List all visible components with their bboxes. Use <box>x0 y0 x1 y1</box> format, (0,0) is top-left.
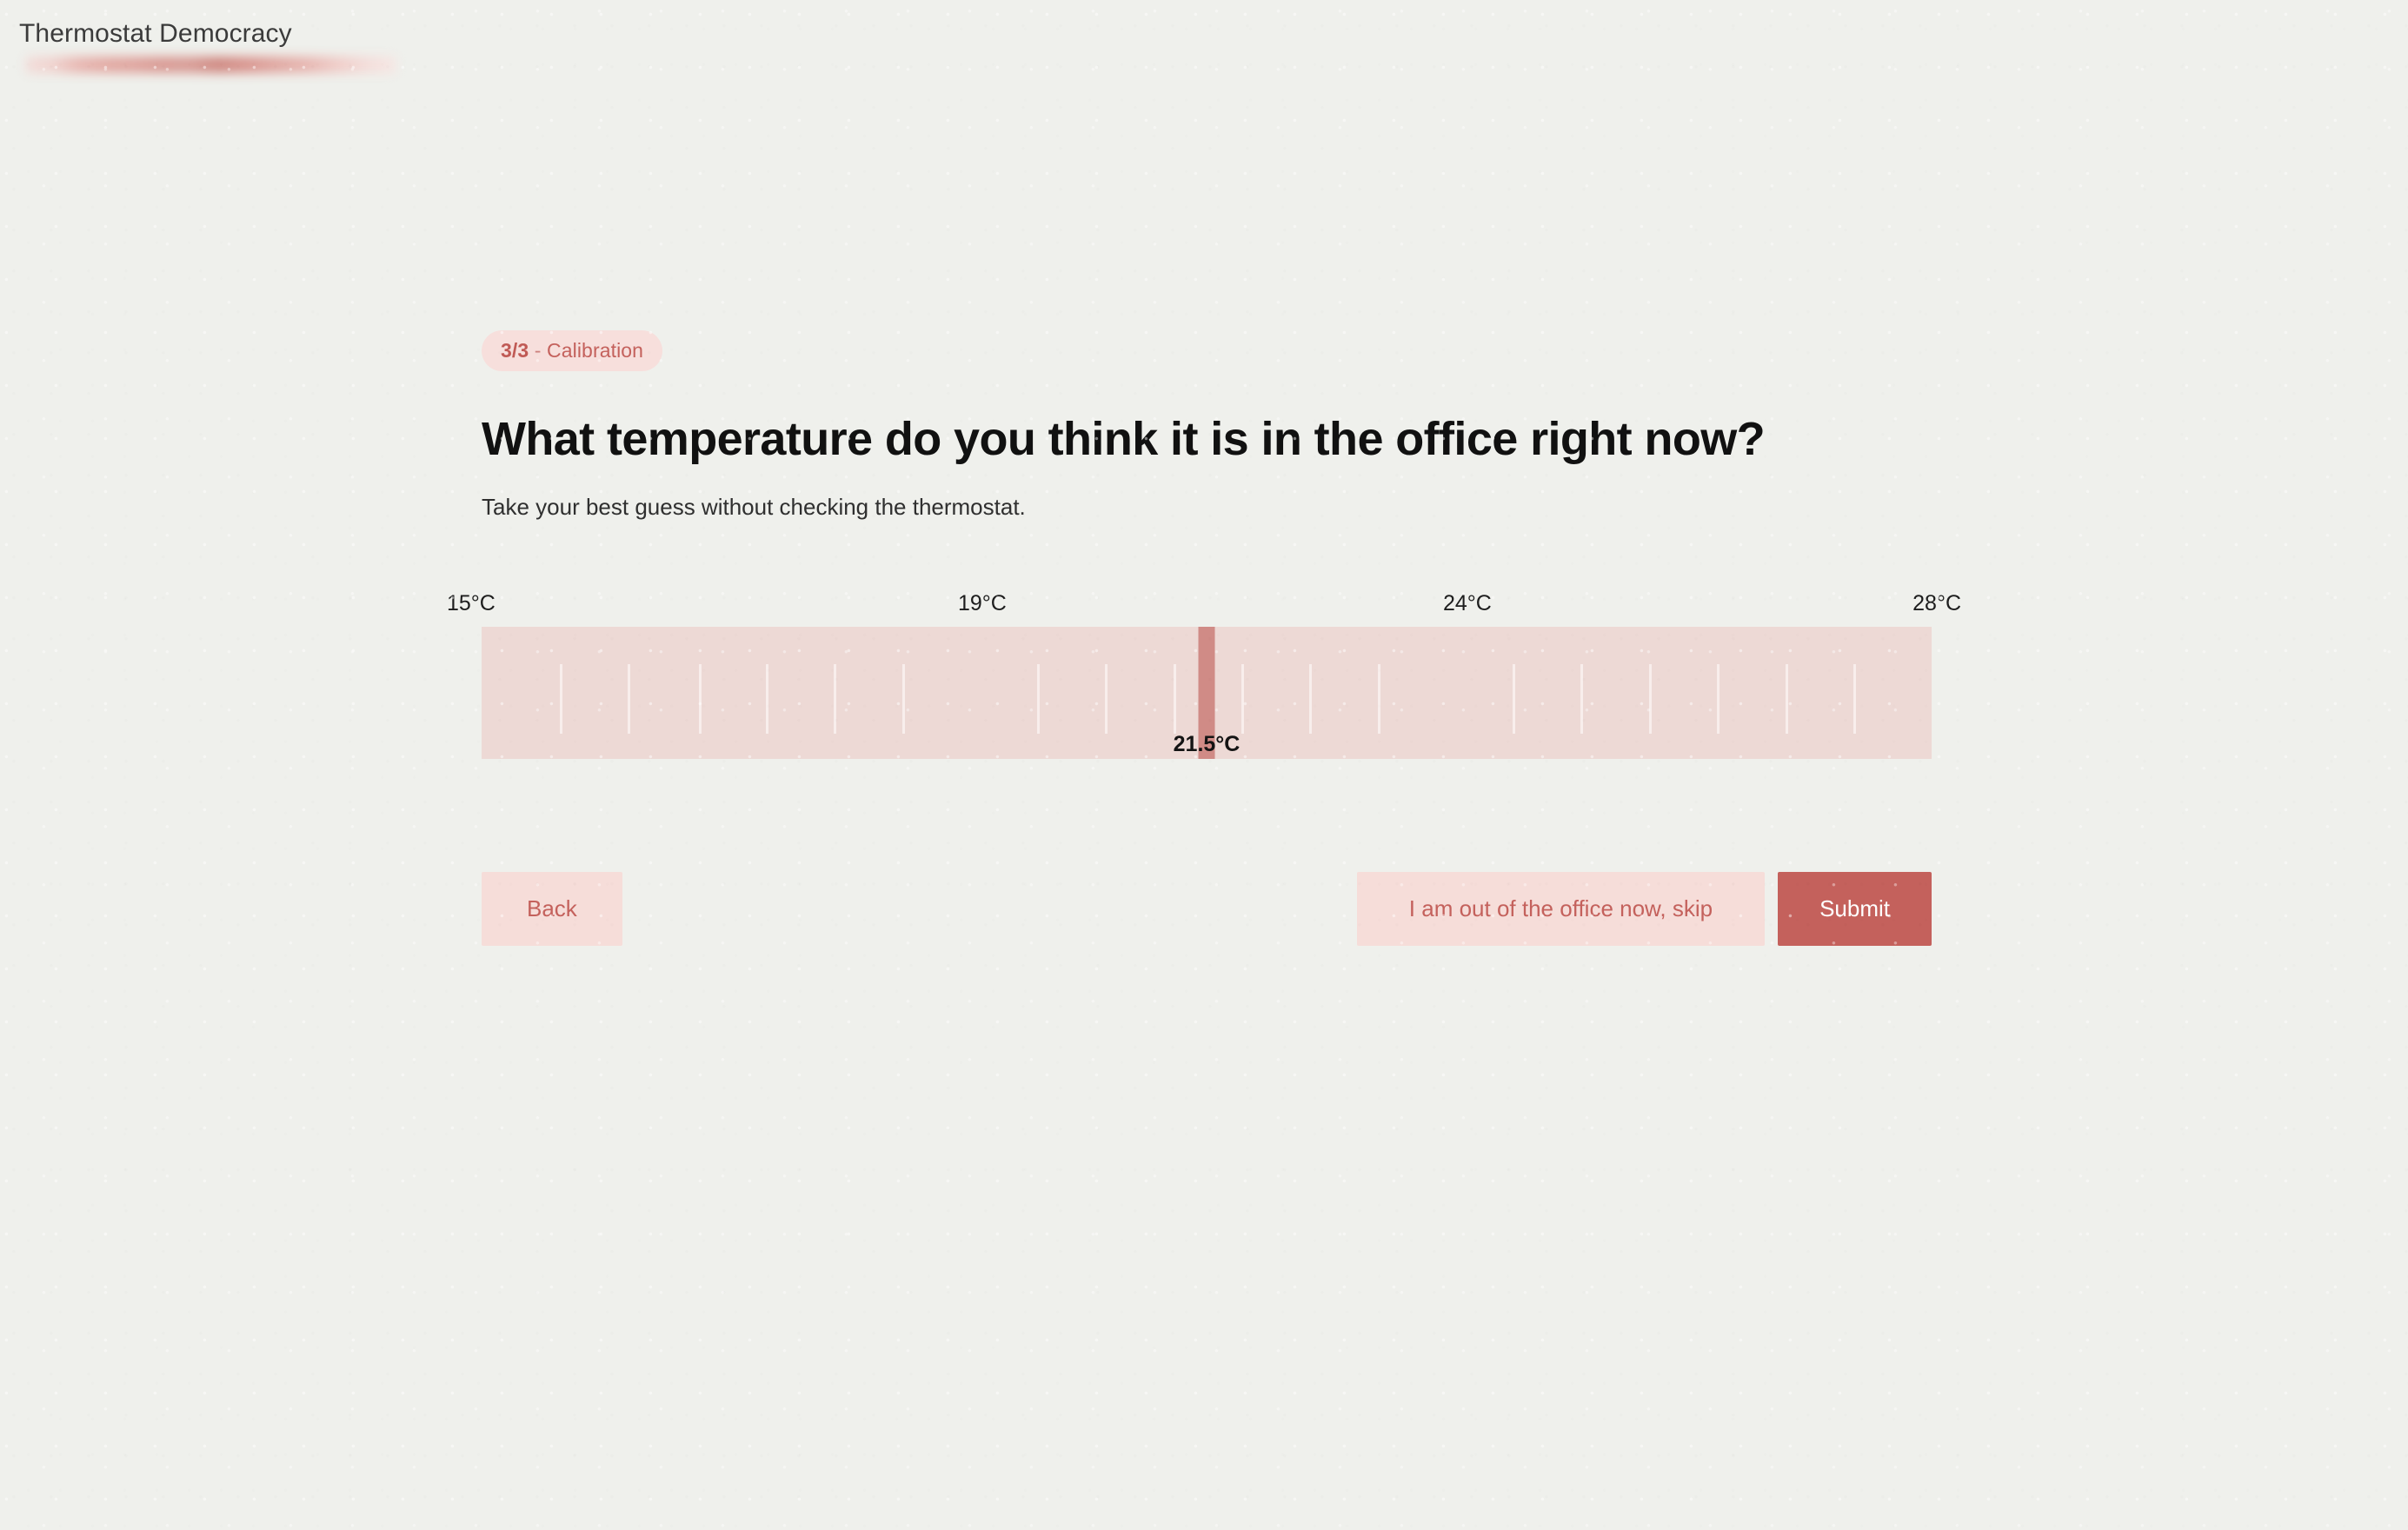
slider-tick <box>1309 664 1312 734</box>
slider-tick <box>1174 664 1176 734</box>
slider-tick <box>1037 664 1040 734</box>
slider-mid-label-1: 19°C <box>958 590 1007 616</box>
skip-button[interactable]: I am out of the office now, skip <box>1357 872 1765 946</box>
step-badge-separator: - <box>529 339 547 362</box>
slider-tick <box>1580 664 1583 734</box>
actions-row: Back I am out of the office now, skip Su… <box>482 872 1932 946</box>
survey-card: 3/3 - Calibration What temperature do yo… <box>482 330 1933 946</box>
primary-actions: I am out of the office now, skip Submit <box>1357 872 1932 946</box>
slider-tick <box>699 664 702 734</box>
slider-tick <box>1378 664 1380 734</box>
brand-gradient-bar <box>26 57 396 73</box>
temperature-slider[interactable]: 15°C 19°C 24°C 28°C 21.5°C <box>482 590 1932 759</box>
slider-tick <box>902 664 905 734</box>
slider-tick <box>1513 664 1515 734</box>
slider-tick <box>628 664 630 734</box>
step-badge-count: 3/3 <box>501 339 529 362</box>
slider-mid-label-2: 24°C <box>1443 590 1492 616</box>
slider-scale-labels: 15°C 19°C 24°C 28°C <box>482 590 1932 616</box>
slider-max-label: 28°C <box>1912 590 1961 616</box>
slider-tick <box>1241 664 1244 734</box>
question-title: What temperature do you think it is in t… <box>482 397 1907 481</box>
slider-tick <box>560 664 562 734</box>
question-subtitle: Take your best guess without checking th… <box>482 493 1933 521</box>
app-header: Thermostat Democracy <box>19 19 428 73</box>
app-title: Thermostat Democracy <box>19 19 428 49</box>
slider-tick <box>1786 664 1788 734</box>
slider-tick <box>1853 664 1856 734</box>
slider-value-label: 21.5°C <box>1174 731 1241 757</box>
step-badge: 3/3 - Calibration <box>482 330 662 371</box>
slider-min-label: 15°C <box>447 590 496 616</box>
slider-tick <box>1105 664 1108 734</box>
back-button[interactable]: Back <box>482 872 622 946</box>
submit-button[interactable]: Submit <box>1778 872 1932 946</box>
step-badge-label: Calibration <box>547 339 643 362</box>
slider-tick <box>834 664 836 734</box>
slider-tick <box>1717 664 1720 734</box>
slider-tick <box>1649 664 1652 734</box>
slider-tick <box>766 664 768 734</box>
